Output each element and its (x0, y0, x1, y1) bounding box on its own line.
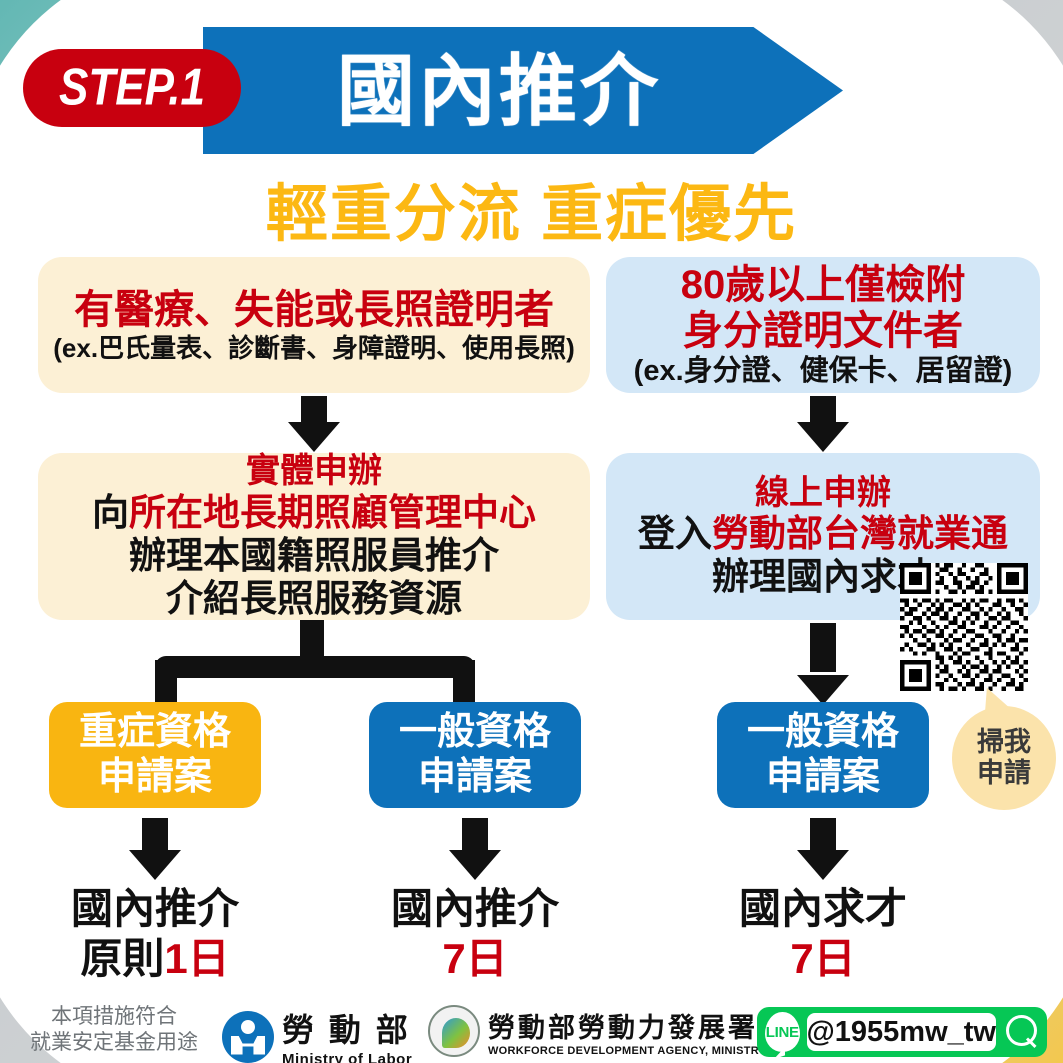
line-logo-icon: LINE (765, 1012, 800, 1052)
outcome-duration: 原則1日 (5, 934, 305, 984)
outcome-right-general: 國內求才 7日 (673, 884, 973, 985)
result-pill-severe-line2: 申請案 (98, 755, 212, 800)
outcome-label: 國內求才 (673, 884, 973, 934)
scan-me-line2: 申請 (977, 758, 1031, 789)
down-arrow-icon (797, 623, 849, 705)
result-pill-severe: 重症資格 申請案 (49, 702, 261, 808)
result-pill-general-left-line1: 一般資格 (399, 710, 551, 755)
left-process-line1: 實體申辦 (246, 452, 382, 491)
left-criteria-example: (ex.巴氏量表、診斷書、身障證明、使用長照) (53, 333, 574, 363)
down-arrow-icon (449, 818, 501, 880)
right-criteria-line1: 80歲以上僅檢附 (681, 262, 966, 308)
line-account-badge[interactable]: LINE @1955mw_tw (757, 1007, 1047, 1057)
result-pill-general-left-line2: 申請案 (418, 755, 532, 800)
subtitle: 輕重分流 重症優先 (0, 163, 1063, 253)
down-arrow-icon (288, 396, 340, 452)
left-process-line4: 介紹長照服務資源 (166, 578, 462, 621)
down-arrow-icon (129, 818, 181, 880)
outcome-left-general: 國內推介 7日 (325, 884, 625, 985)
outcome-duration: 7日 (673, 934, 973, 984)
left-criteria-box: 有醫療、失能或長照證明者 (ex.巴氏量表、診斷書、身障證明、使用長照) (38, 257, 590, 393)
fork-connector (155, 620, 475, 706)
outcome-label: 國內推介 (5, 884, 305, 934)
ministry-of-labor-mark-icon (222, 1011, 274, 1063)
ministry-of-labor-name-en: Ministry of Labor (282, 1051, 412, 1063)
scan-me-bubble: 掃我 申請 (952, 706, 1056, 810)
down-arrow-icon (797, 396, 849, 452)
fund-note-line2: 就業安定基金用途 (24, 1030, 204, 1056)
step-badge: STEP.1 (26, 52, 238, 124)
down-arrow-icon (797, 818, 849, 880)
infographic-canvas: 國內推介 STEP.1 輕重分流 重症優先 有醫療、失能或長照證明者 (ex.巴… (0, 0, 1063, 1063)
result-pill-general-right-line2: 申請案 (766, 755, 880, 800)
result-pill-general-right-line1: 一般資格 (747, 710, 899, 755)
outcome-left-severe: 國內推介 原則1日 (5, 884, 305, 985)
scan-me-line1: 掃我 (977, 727, 1031, 758)
ministry-of-labor-logo: 勞 動 部 Ministry of Labor (222, 1005, 412, 1063)
line-id-value: @1955mw_tw (807, 1013, 996, 1051)
step-badge-label: STEP.1 (59, 59, 205, 118)
right-criteria-box: 80歲以上僅檢附 身分證明文件者 (ex.身分證、健保卡、居留證) (606, 257, 1040, 393)
result-pill-general-left: 一般資格 申請案 (369, 702, 581, 808)
left-process-line2: 向所在地長期照顧管理中心 (92, 492, 536, 535)
footer: 本項措施符合 就業安定基金用途 勞 動 部 Ministry of Labor … (0, 1000, 1063, 1063)
ministry-of-labor-name-cn: 勞 動 部 (282, 1005, 412, 1051)
right-criteria-line2: 身分證明文件者 (683, 308, 963, 354)
left-criteria-main: 有醫療、失能或長照證明者 (74, 287, 554, 333)
right-process-line1: 線上申辦 (755, 474, 891, 513)
qr-code-svg (900, 563, 1028, 691)
result-pill-general-right: 一般資格 申請案 (717, 702, 929, 808)
outcome-duration: 7日 (325, 934, 625, 984)
search-icon[interactable] (1005, 1015, 1039, 1049)
left-process-line3: 辦理本國籍照服員推介 (129, 535, 499, 578)
page-title: 國內推介 (337, 52, 709, 130)
outcome-label: 國內推介 (325, 884, 625, 934)
header-banner: 國內推介 (203, 27, 843, 154)
fund-note: 本項措施符合 就業安定基金用途 (24, 1004, 204, 1057)
fund-note-line1: 本項措施符合 (24, 1004, 204, 1030)
right-criteria-example: (ex.身分證、健保卡、居留證) (634, 355, 1013, 389)
line-logo-label: LINE (766, 1024, 799, 1041)
right-process-line2: 登入勞動部台灣就業通 (638, 513, 1008, 556)
result-pill-severe-line1: 重症資格 (79, 710, 231, 755)
qr-code-icon[interactable] (900, 563, 1028, 691)
left-process-box: 實體申辦 向所在地長期照顧管理中心 辦理本國籍照服員推介 介紹長照服務資源 (38, 453, 590, 620)
wda-mark-icon (428, 1005, 480, 1057)
